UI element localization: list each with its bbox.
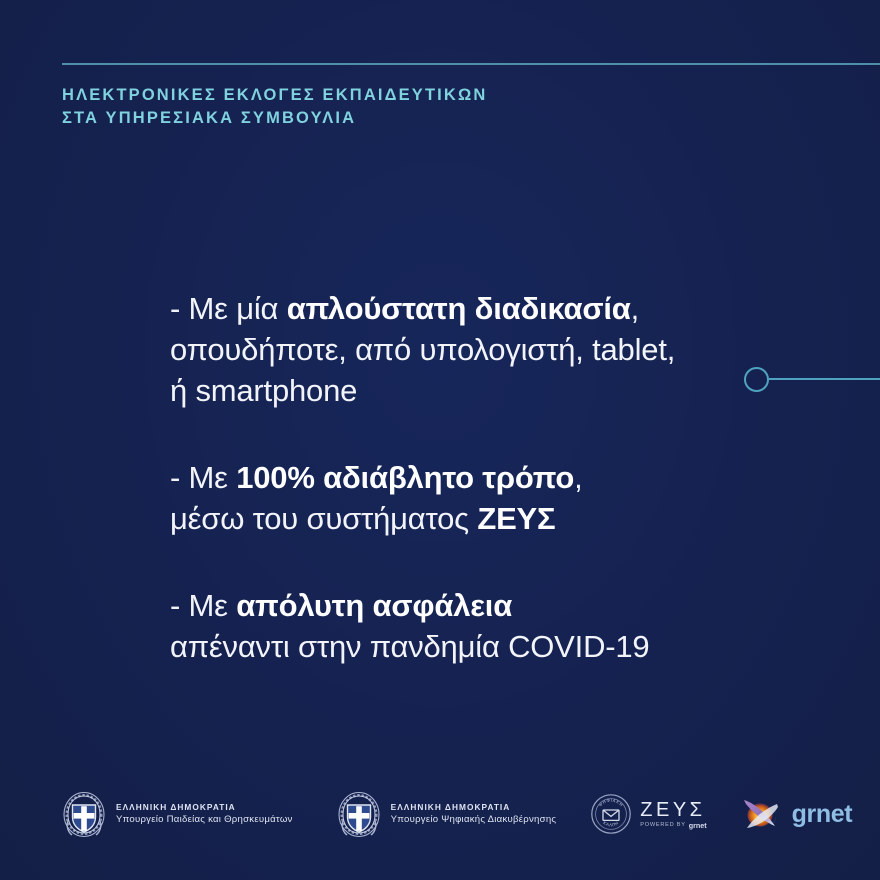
bullet-2-line-2-prefix: μέσω του συστήματος <box>170 501 477 536</box>
logo-grnet: grnet <box>737 792 853 836</box>
bullet-1-line-1-prefix: - Με μία <box>170 291 287 326</box>
bullet-3-line-1: - Με απόλυτη ασφάλεια <box>170 585 770 626</box>
decorative-line <box>769 378 880 380</box>
bullet-1-line-3: ή smartphone <box>170 370 770 411</box>
logo-ministry-of-education-text: ΕΛΛΗΝΙΚΗ ΔΗΜΟΚΡΑΤΙΑ Υπουργείο Παιδείας κ… <box>116 801 293 827</box>
logo-zeus-powered-by: POWERED BYgrnet <box>640 821 706 830</box>
logo-ministry-of-digital-governance-text: ΕΛΛΗΝΙΚΗ ΔΗΜΟΚΡΑΤΙΑ Υπουργείο Ψηφιακής Δ… <box>391 801 557 827</box>
bullet-3-line-2: απέναντι στην πανδημία COVID-19 <box>170 626 770 667</box>
bullet-3-line-1-bold: απόλυτη ασφάλεια <box>236 588 512 623</box>
bullet-1-line-1-bold: απλούστατη διαδικασία <box>287 291 631 326</box>
bullet-2-line-1: - Με 100% αδιάβλητο τρόπο, <box>170 457 770 498</box>
bullet-2-line-1-bold: 100% αδιάβλητο τρόπο <box>236 460 574 495</box>
logo-zeus-powered-by-brand: grnet <box>689 821 707 830</box>
list-item: - Με απόλυτη ασφάλεια απέναντι στην πανδ… <box>170 585 770 667</box>
hellenic-republic-coat-of-arms-icon <box>337 791 381 838</box>
page-title: ΗΛΕΚΤΡΟΝΙΚΕΣ ΕΚΛΟΓΕΣ ΕΚΠΑΙΔΕΥΤΙΚΩΝ ΣΤΑ Υ… <box>62 84 702 130</box>
bullet-2-line-1-suffix: , <box>574 460 582 495</box>
list-item: - Με 100% αδιάβλητο τρόπο, μέσω του συστ… <box>170 457 770 539</box>
logo-zeus-powered-by-label: POWERED BY <box>640 821 685 830</box>
bullet-2-line-2: μέσω του συστήματος ΖΕΥΣ <box>170 498 770 539</box>
zeus-envelope-seal-icon: ΨΗΦΙΑΚΗ ΚΑΛΠΗ <box>590 793 632 835</box>
hellenic-republic-coat-of-arms-icon <box>62 791 106 838</box>
bullet-1-line-2: οπουδήποτε, από υπολογιστή, tablet, <box>170 329 770 370</box>
logo-grnet-wordmark: grnet <box>792 801 853 827</box>
feature-bullet-list: - Με μία απλούστατη διαδικασία, οπουδήπο… <box>170 288 770 667</box>
logo-ministry-of-education-line-2: Υπουργείο Παιδείας και Θρησκευμάτων <box>116 813 293 827</box>
bullet-2-line-1-prefix: - Με <box>170 460 236 495</box>
svg-text:ΨΗΦΙΑΚΗ: ΨΗΦΙΑΚΗ <box>598 797 624 807</box>
list-item: - Με μία απλούστατη διαδικασία, οπουδήπο… <box>170 288 770 411</box>
grnet-swoosh-icon <box>737 792 785 836</box>
logo-ministry-of-digital-governance-line-2: Υπουργείο Ψηφιακής Διακυβέρνησης <box>391 813 557 827</box>
footer-logo-bar: ΕΛΛΗΝΙΚΗ ΔΗΜΟΚΡΑΤΙΑ Υπουργείο Παιδείας κ… <box>0 784 880 844</box>
logo-ministry-of-digital-governance-line-1: ΕΛΛΗΝΙΚΗ ΔΗΜΟΚΡΑΤΙΑ <box>391 801 557 813</box>
bullet-3-line-1-prefix: - Με <box>170 588 236 623</box>
logo-zeus: ΨΗΦΙΑΚΗ ΚΑΛΠΗ ΖΕΥΣ POWERED BYgrnet <box>590 793 706 835</box>
bullet-1-line-1-suffix: , <box>631 291 639 326</box>
top-divider-rule <box>62 63 880 65</box>
page-title-line-2: ΣΤΑ ΥΠΗΡΕΣΙΑΚΑ ΣΥΜΒΟΥΛΙΑ <box>62 107 702 130</box>
bullet-2-line-2-bold: ΖΕΥΣ <box>477 501 555 536</box>
bullet-1-line-1: - Με μία απλούστατη διαδικασία, <box>170 288 770 329</box>
svg-text:ΚΑΛΠΗ: ΚΑΛΠΗ <box>603 820 620 827</box>
logo-zeus-wordmark: ΖΕΥΣ <box>640 799 705 821</box>
logo-ministry-of-digital-governance: ΕΛΛΗΝΙΚΗ ΔΗΜΟΚΡΑΤΙΑ Υπουργείο Ψηφιακής Δ… <box>337 791 557 838</box>
logo-zeus-text: ΖΕΥΣ POWERED BYgrnet <box>640 799 706 830</box>
logo-ministry-of-education: ΕΛΛΗΝΙΚΗ ΔΗΜΟΚΡΑΤΙΑ Υπουργείο Παιδείας κ… <box>62 791 293 838</box>
logo-ministry-of-education-line-1: ΕΛΛΗΝΙΚΗ ΔΗΜΟΚΡΑΤΙΑ <box>116 801 293 813</box>
page-title-line-1: ΗΛΕΚΤΡΟΝΙΚΕΣ ΕΚΛΟΓΕΣ ΕΚΠΑΙΔΕΥΤΙΚΩΝ <box>62 84 702 107</box>
